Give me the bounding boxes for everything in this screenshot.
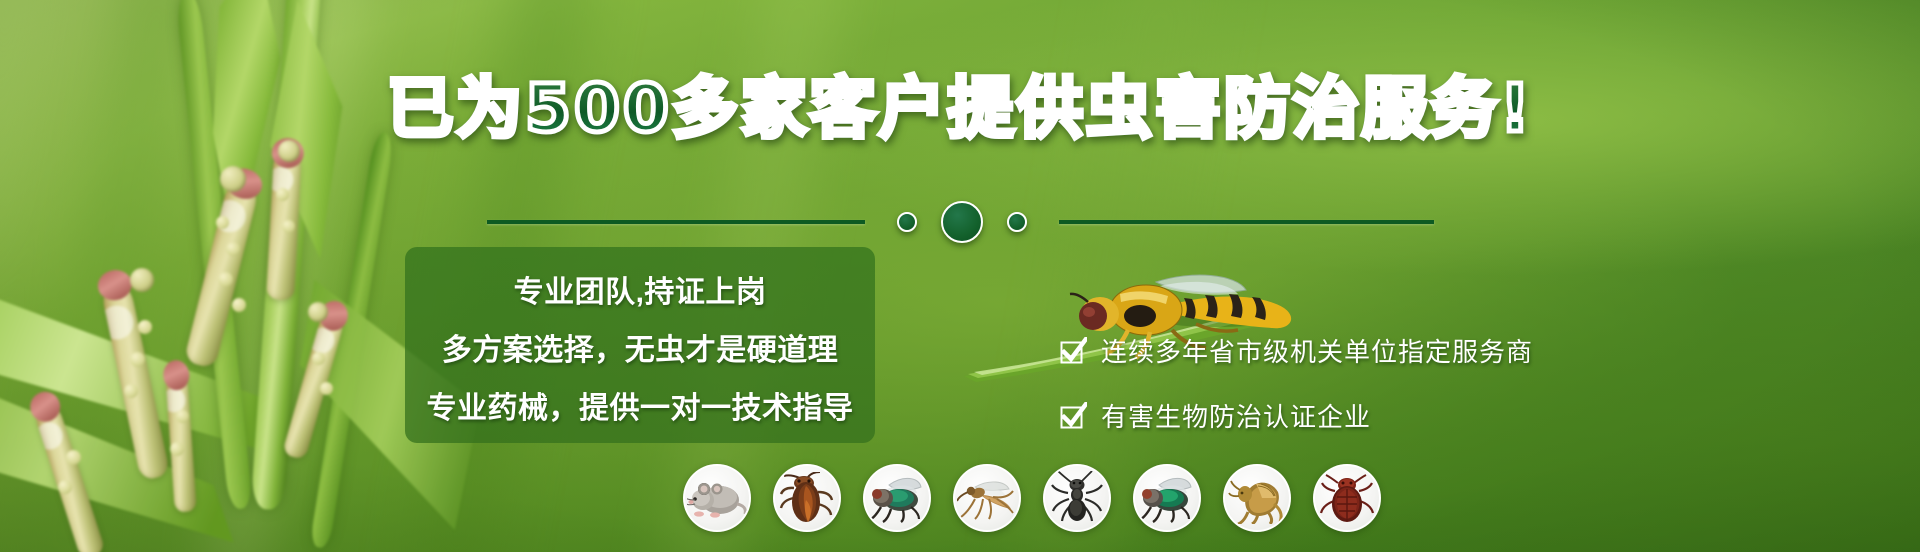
cockroach-icon: [773, 464, 841, 532]
pest-type-icons: [683, 464, 1381, 532]
greenfly-icon: [1133, 464, 1201, 532]
credential-text: 有害生物防治认证企业: [1101, 397, 1371, 434]
divider-dot-small-left: [897, 212, 917, 232]
bedbug-icon: [1313, 464, 1381, 532]
list-item: 连续多年省市级机关单位指定服务商: [1060, 332, 1533, 369]
divider-dot-large-center: [941, 201, 983, 243]
check-box-icon: [1060, 402, 1087, 429]
credentials-list: 连续多年省市级机关单位指定服务商 有害生物防治认证企业: [1060, 332, 1533, 462]
banner-headline: 已为500多家客户提供虫害防治服务!: [0, 76, 1920, 142]
panel-line-1: 专业团队,持证上岗: [514, 267, 767, 311]
divider-line-right: [1059, 220, 1434, 224]
pest-control-hero-banner: 已为500多家客户提供虫害防治服务!: [0, 0, 1920, 552]
highlights-panel-text: 专业团队,持证上岗 多方案选择，无虫才是硬道理 专业药械，提供一对一技术指导: [405, 252, 875, 442]
mosquito-icon: [953, 464, 1021, 532]
headline-text: 已为500多家客户提供虫害防治服务!: [387, 76, 1533, 142]
list-item: 有害生物防治认证企业: [1060, 397, 1533, 434]
divider-dot-small-right: [1007, 212, 1027, 232]
mouse-icon: [683, 464, 751, 532]
decorative-divider: [0, 200, 1920, 244]
panel-line-3: 专业药械，提供一对一技术指导: [427, 383, 854, 427]
check-box-icon: [1060, 337, 1087, 364]
housefly-icon: [863, 464, 931, 532]
panel-line-2: 多方案选择，无虫才是硬道理: [442, 325, 839, 369]
credential-text: 连续多年省市级机关单位指定服务商: [1101, 332, 1533, 369]
flea-icon: [1223, 464, 1291, 532]
divider-line-left: [487, 220, 865, 224]
ant-icon: [1043, 464, 1111, 532]
